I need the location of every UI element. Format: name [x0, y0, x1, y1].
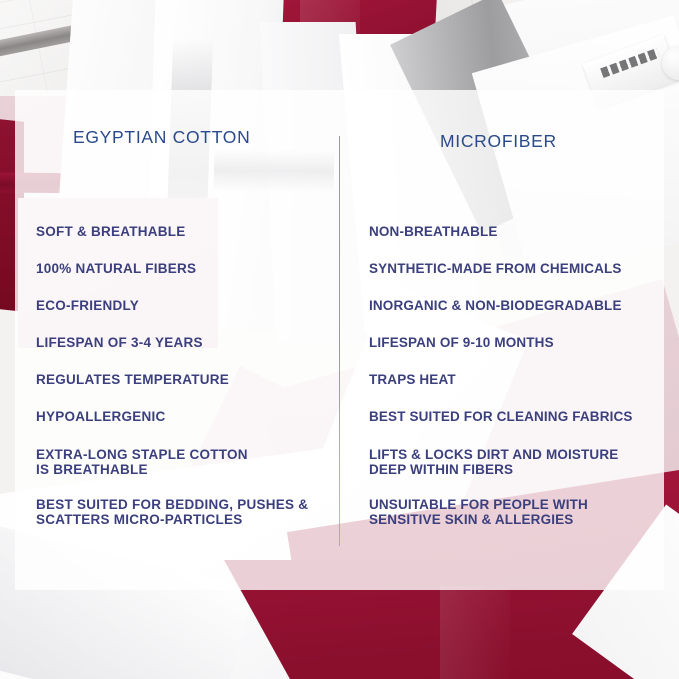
list-item: REGULATES TEMPERATURE — [36, 372, 326, 388]
list-item: BEST SUITED FOR CLEANING FABRICS — [369, 409, 661, 425]
column-microfiber: NON-BREATHABLE SYNTHETIC-MADE FROM CHEMI… — [369, 224, 661, 547]
list-item: UNSUITABLE FOR PEOPLE WITH SENSITIVE SKI… — [369, 497, 661, 528]
comparison-content: EGYPTIAN COTTON MICROFIBER SOFT & BREATH… — [0, 0, 679, 679]
list-item: SYNTHETIC-MADE FROM CHEMICALS — [369, 261, 661, 277]
list-item: ECO-FRIENDLY — [36, 298, 326, 314]
column-divider — [339, 136, 340, 546]
list-item: NON-BREATHABLE — [369, 224, 661, 240]
list-item: 100% NATURAL FIBERS — [36, 261, 326, 277]
list-item: BEST SUITED FOR BEDDING, PUSHES & SCATTE… — [36, 497, 326, 528]
list-item: INORGANIC & NON-BIODEGRADABLE — [369, 298, 661, 314]
list-item: EXTRA-LONG STAPLE COTTON IS BREATHABLE — [36, 447, 326, 478]
list-item: TRAPS HEAT — [369, 372, 661, 388]
column-header-microfiber: MICROFIBER — [440, 131, 557, 152]
column-header-egyptian-cotton: EGYPTIAN COTTON — [73, 127, 250, 148]
list-item: HYPOALLERGENIC — [36, 409, 326, 425]
list-item: LIFTS & LOCKS DIRT AND MOISTURE DEEP WIT… — [369, 447, 661, 478]
list-item: LIFESPAN OF 3-4 YEARS — [36, 335, 326, 351]
column-egyptian-cotton: SOFT & BREATHABLE 100% NATURAL FIBERS EC… — [36, 224, 326, 547]
list-item: LIFESPAN OF 9-10 MONTHS — [369, 335, 661, 351]
comparison-infographic: EGYPTIAN COTTON MICROFIBER SOFT & BREATH… — [0, 0, 679, 679]
list-item: SOFT & BREATHABLE — [36, 224, 326, 240]
